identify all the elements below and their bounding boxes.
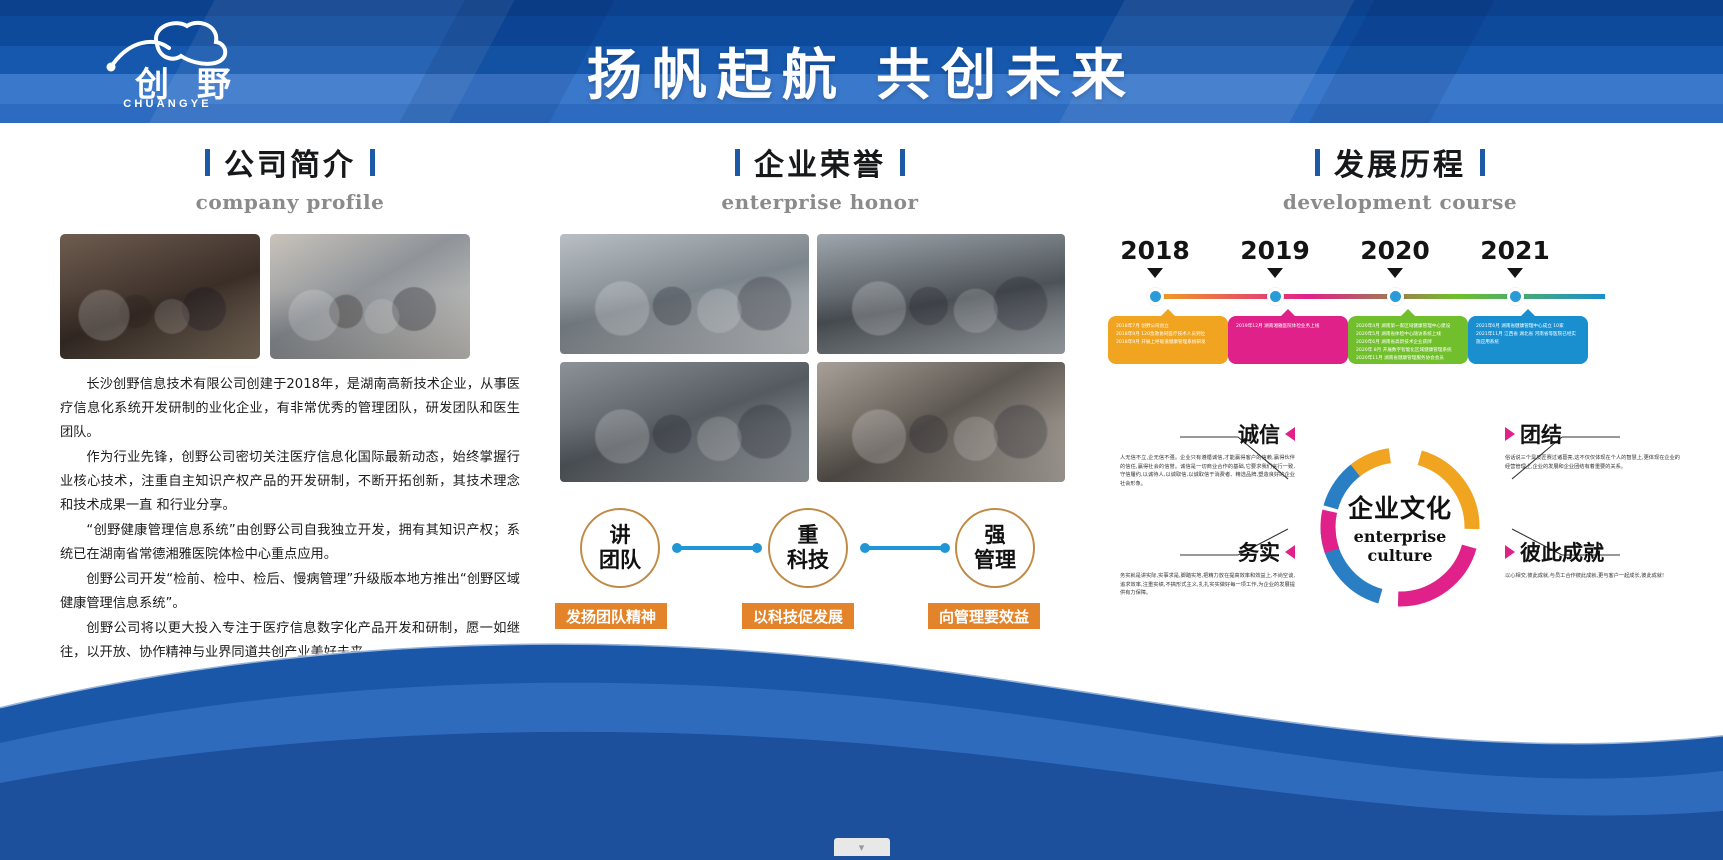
flow-connector-line [676,546,758,550]
timeline-year: 2021 [1470,236,1560,265]
arrow-left-icon [1285,545,1295,559]
section-title-en: development course [1120,190,1680,214]
culture-quadrant-title: 务实 [1238,537,1280,567]
timeline-node [1507,288,1524,305]
flow-connector-dot [672,543,682,553]
section-title-en: enterprise honor [560,190,1080,214]
culture-quadrant-title: 团结 [1520,419,1562,449]
honor-photo [560,234,809,354]
timeline-bar [1155,294,1605,299]
value-circle-line1: 讲 [610,523,631,548]
tick-right-icon [900,149,905,176]
profile-photo-office [270,234,470,359]
culture-quadrant-desc: 人无信不立,企无信不强。企业只有遵循诚信,才能赢得客户的信赖,赢得伙伴的信任,赢… [1120,454,1295,488]
culture-wheel-diagram: 企业文化 enterprise culture 诚信 人无信不立,企无信不强。企… [1120,419,1680,634]
timeline-card-2019: 2019年12月 湖南湘雅医院体检业务上线 [1228,316,1348,364]
flow-connector-dot [752,543,762,553]
development-timeline: 2018 2019 2020 2021 2018年7月 创野公司创立 2018年… [1120,236,1680,401]
timeline-card-2020: 2020年4月 湖南第一家区域健康管理中心建设 2020年5月 湖南省体检中心随… [1348,316,1468,364]
banner-title: 扬帆起航 共创未来 [0,30,1723,110]
culture-center-en2: culture [1310,546,1490,565]
timeline-entry: 2020年11月 湖南省健康管理服务协会会员 [1356,355,1460,363]
flow-connector-dot [940,543,950,553]
culture-quadrant-title-wrap: 彼此成就 [1505,537,1680,567]
timeline-entry: 2018年9月 120急救协同医疗技术人员到位 [1116,331,1220,339]
value-circle-team: 讲 团队 [580,508,660,588]
culture-quadrant-mutual-achievement: 彼此成就 以心相交,彼此成就,与员工合作彼此成就,更与客户一起成长,彼此成就! [1505,537,1680,581]
section-title-cn: 发展历程 [1334,140,1466,184]
culture-quadrant-desc: 以心相交,彼此成就,与员工合作彼此成就,更与客户一起成长,彼此成就! [1505,572,1680,581]
tick-left-icon [205,149,210,176]
section-title-cn-wrap: 企业荣誉 [560,140,1080,184]
column-enterprise-honor: 企业荣誉 enterprise honor 讲 团队 重 科技 强 管理 [560,140,1080,618]
value-circle-line2: 科技 [787,548,829,573]
section-title-cn-wrap: 公司简介 [60,140,520,184]
culture-quadrant-title-wrap: 务实 [1120,537,1295,567]
value-circle-management: 强 管理 [955,508,1035,588]
culture-quadrant-unity: 团结 俗话说三个臭皮匠赛过诸葛亮,这不仅仅体现在个人的智慧上,更体现在企业的经营… [1505,419,1680,471]
column-company-profile: 公司简介 company profile 长沙创野信息技术有限公司创建于2018… [60,140,520,666]
column-development-course: 发展历程 development course 2018 2019 2020 2… [1120,140,1680,634]
tick-right-icon [1480,149,1485,176]
section-title-cn: 公司简介 [224,140,356,184]
tick-left-icon [1315,149,1320,176]
arrow-right-icon [1505,545,1515,559]
timeline-year-arrow-icon [1507,268,1523,278]
poster-canvas: 创 野 CHUANGYE 扬帆起航 共创未来 公司简介 company prof… [0,0,1723,860]
honor-photo-grid [560,234,1065,482]
culture-quadrant-desc: 务实就是讲实际,实事求是,脚踏实地,把精力放在提高效率和效益上,不尚空谈,追求效… [1120,572,1295,598]
arrow-right-icon [1505,427,1515,441]
timeline-entry: 2020年 8月 开展数字智能化区域健康管理系统 [1356,347,1460,355]
timeline-entry: 2018年7月 创野公司创立 [1116,323,1220,331]
flow-connector-line [864,546,946,550]
culture-quadrant-integrity: 诚信 人无信不立,企无信不强。企业只有遵循诚信,才能赢得客户的信赖,赢得伙伴的信… [1120,419,1295,488]
culture-quadrant-pragmatism: 务实 务实就是讲实际,实事求是,脚踏实地,把精力放在提高效率和效益上,不尚空谈,… [1120,537,1295,598]
culture-center-en1: enterprise [1310,527,1490,546]
section-header-enterprise-honor: 企业荣誉 enterprise honor [560,140,1080,214]
culture-quadrant-title: 诚信 [1238,419,1280,449]
honor-photo [817,362,1066,482]
profile-paragraph: “创野健康管理信息系统”由创野公司自我独立开发，拥有其知识产权；系统已在湖南省常… [60,519,520,567]
honor-photo [560,362,809,482]
timeline-entry: 2020年5月 湖南省体检中心随访系统上线 [1356,331,1460,339]
flow-connector-dot [860,543,870,553]
timeline-card-nub [1160,309,1176,317]
timeline-entry: 2021年11月 江西省 湖北省 河南省等医院已经实 [1476,331,1580,339]
timeline-entry: 2021年6月 湖南省健康管理中心成立 10家 [1476,323,1580,331]
timeline-node [1147,288,1164,305]
culture-center-label: 企业文化 enterprise culture [1310,489,1490,565]
timeline-entry: 2018年9月 开展上呼吸道健康管理系统研发 [1116,339,1220,347]
section-title-en: company profile [60,190,520,214]
footer-wave-icon [0,615,1723,860]
values-flow-diagram: 讲 团队 重 科技 强 管理 发扬团队精神 以科技促发展 向管理要效益 [560,508,1065,618]
value-circle-line2: 团队 [599,548,641,573]
timeline-node [1387,288,1404,305]
timeline-entry: 2020年6月 湖南省高新技术企业获牌 [1356,339,1460,347]
profile-paragraph: 创野公司开发“检前、检中、检后、慢病管理”升级版本地方推出“创野区域健康管理信息… [60,568,520,616]
timeline-year-arrow-icon [1147,268,1163,278]
timeline-card-nub [1520,309,1536,317]
timeline-card-nub [1280,309,1296,317]
timeline-year-arrow-icon [1267,268,1283,278]
timeline-entry: 2020年4月 湖南第一家区域健康管理中心建设 [1356,323,1460,331]
section-header-development-course: 发展历程 development course [1120,140,1680,214]
section-title-cn: 企业荣誉 [754,140,886,184]
section-header-company-profile: 公司简介 company profile [60,140,520,214]
honor-photo [817,234,1066,354]
culture-quadrant-title-wrap: 诚信 [1120,419,1295,449]
profile-paragraph: 长沙创野信息技术有限公司创建于2018年，是湖南高新技术企业，从事医疗信息化系统… [60,373,520,445]
tick-right-icon [370,149,375,176]
profile-photo-team [60,234,260,359]
timeline-card-2021: 2021年6月 湖南省健康管理中心成立 10家 2021年11月 江西省 湖北省… [1468,316,1588,364]
culture-quadrant-title-wrap: 团结 [1505,419,1680,449]
timeline-card-2018: 2018年7月 创野公司创立 2018年9月 120急救协同医疗技术人员到位 2… [1108,316,1228,364]
timeline-year: 2020 [1350,236,1440,265]
culture-quadrant-desc: 俗话说三个臭皮匠赛过诸葛亮,这不仅仅体现在个人的智慧上,更体现在企业的经营管理上… [1505,454,1680,471]
section-title-cn-wrap: 发展历程 [1120,140,1680,184]
timeline-year: 2018 [1110,236,1200,265]
scroll-hint-icon[interactable]: ▾ [834,838,890,856]
timeline-entry: 施应用系统 [1476,339,1580,347]
profile-photo-row [60,234,520,359]
timeline-node [1267,288,1284,305]
footer-wave: ▾ [0,615,1723,860]
timeline-entry: 2019年12月 湖南湘雅医院体检业务上线 [1236,323,1340,331]
timeline-card-nub [1400,309,1416,317]
value-circle-tech: 重 科技 [768,508,848,588]
value-circle-line1: 重 [798,523,819,548]
culture-ring: 企业文化 enterprise culture [1310,437,1490,617]
culture-quadrant-title: 彼此成就 [1520,537,1604,567]
timeline-year: 2019 [1230,236,1320,265]
culture-center-cn: 企业文化 [1310,489,1490,525]
profile-paragraph: 作为行业先锋，创野公司密切关注医疗信息化国际最新动态，始终掌握行业核心技术，注重… [60,446,520,518]
timeline-year-arrow-icon [1387,268,1403,278]
header-banner: 创 野 CHUANGYE 扬帆起航 共创未来 [0,0,1723,123]
tick-left-icon [735,149,740,176]
value-circle-line1: 强 [985,523,1006,548]
value-circle-line2: 管理 [974,548,1016,573]
arrow-left-icon [1285,427,1295,441]
